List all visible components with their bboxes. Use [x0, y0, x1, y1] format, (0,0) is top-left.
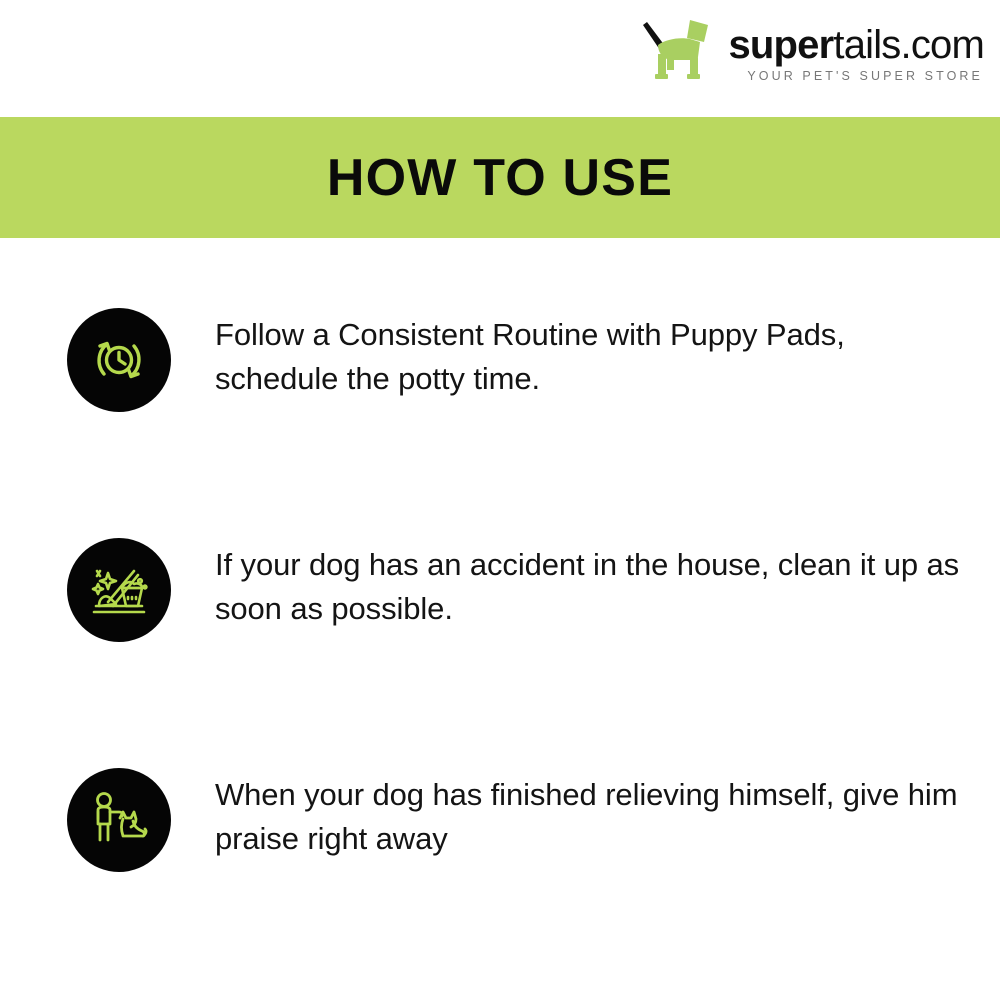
list-item: Follow a Consistent Routine with Puppy P… — [0, 308, 1000, 538]
list-item: If your dog has an accident in the house… — [0, 538, 1000, 768]
page-header: supertails.com YOUR PET'S SUPER STORE — [0, 0, 1000, 117]
logo-wordmark-bold: super — [728, 23, 833, 67]
logo-wordmark-light: tails.com — [833, 23, 984, 67]
steps-list: Follow a Consistent Routine with Puppy P… — [0, 238, 1000, 998]
step-text: Follow a Consistent Routine with Puppy P… — [215, 313, 975, 401]
list-item: When your dog has finished relieving him… — [0, 768, 1000, 998]
step-text: When your dog has finished relieving him… — [215, 773, 975, 861]
person-petting-dog-icon — [67, 768, 171, 872]
logo-tagline: YOUR PET'S SUPER STORE — [728, 68, 984, 84]
supertails-logo[interactable]: supertails.com YOUR PET'S SUPER STORE — [640, 18, 984, 84]
step-text: If your dog has an accident in the house… — [215, 543, 975, 631]
how-to-use-banner: HOW TO USE — [0, 117, 1000, 238]
logo-text: supertails.com YOUR PET'S SUPER STORE — [728, 18, 984, 84]
routine-clock-arrows-icon — [67, 308, 171, 412]
logo-wordmark: supertails.com — [728, 24, 984, 66]
mop-bucket-sparkle-icon — [67, 538, 171, 642]
page-title: HOW TO USE — [327, 148, 673, 208]
dog-silhouette-icon — [640, 18, 718, 84]
